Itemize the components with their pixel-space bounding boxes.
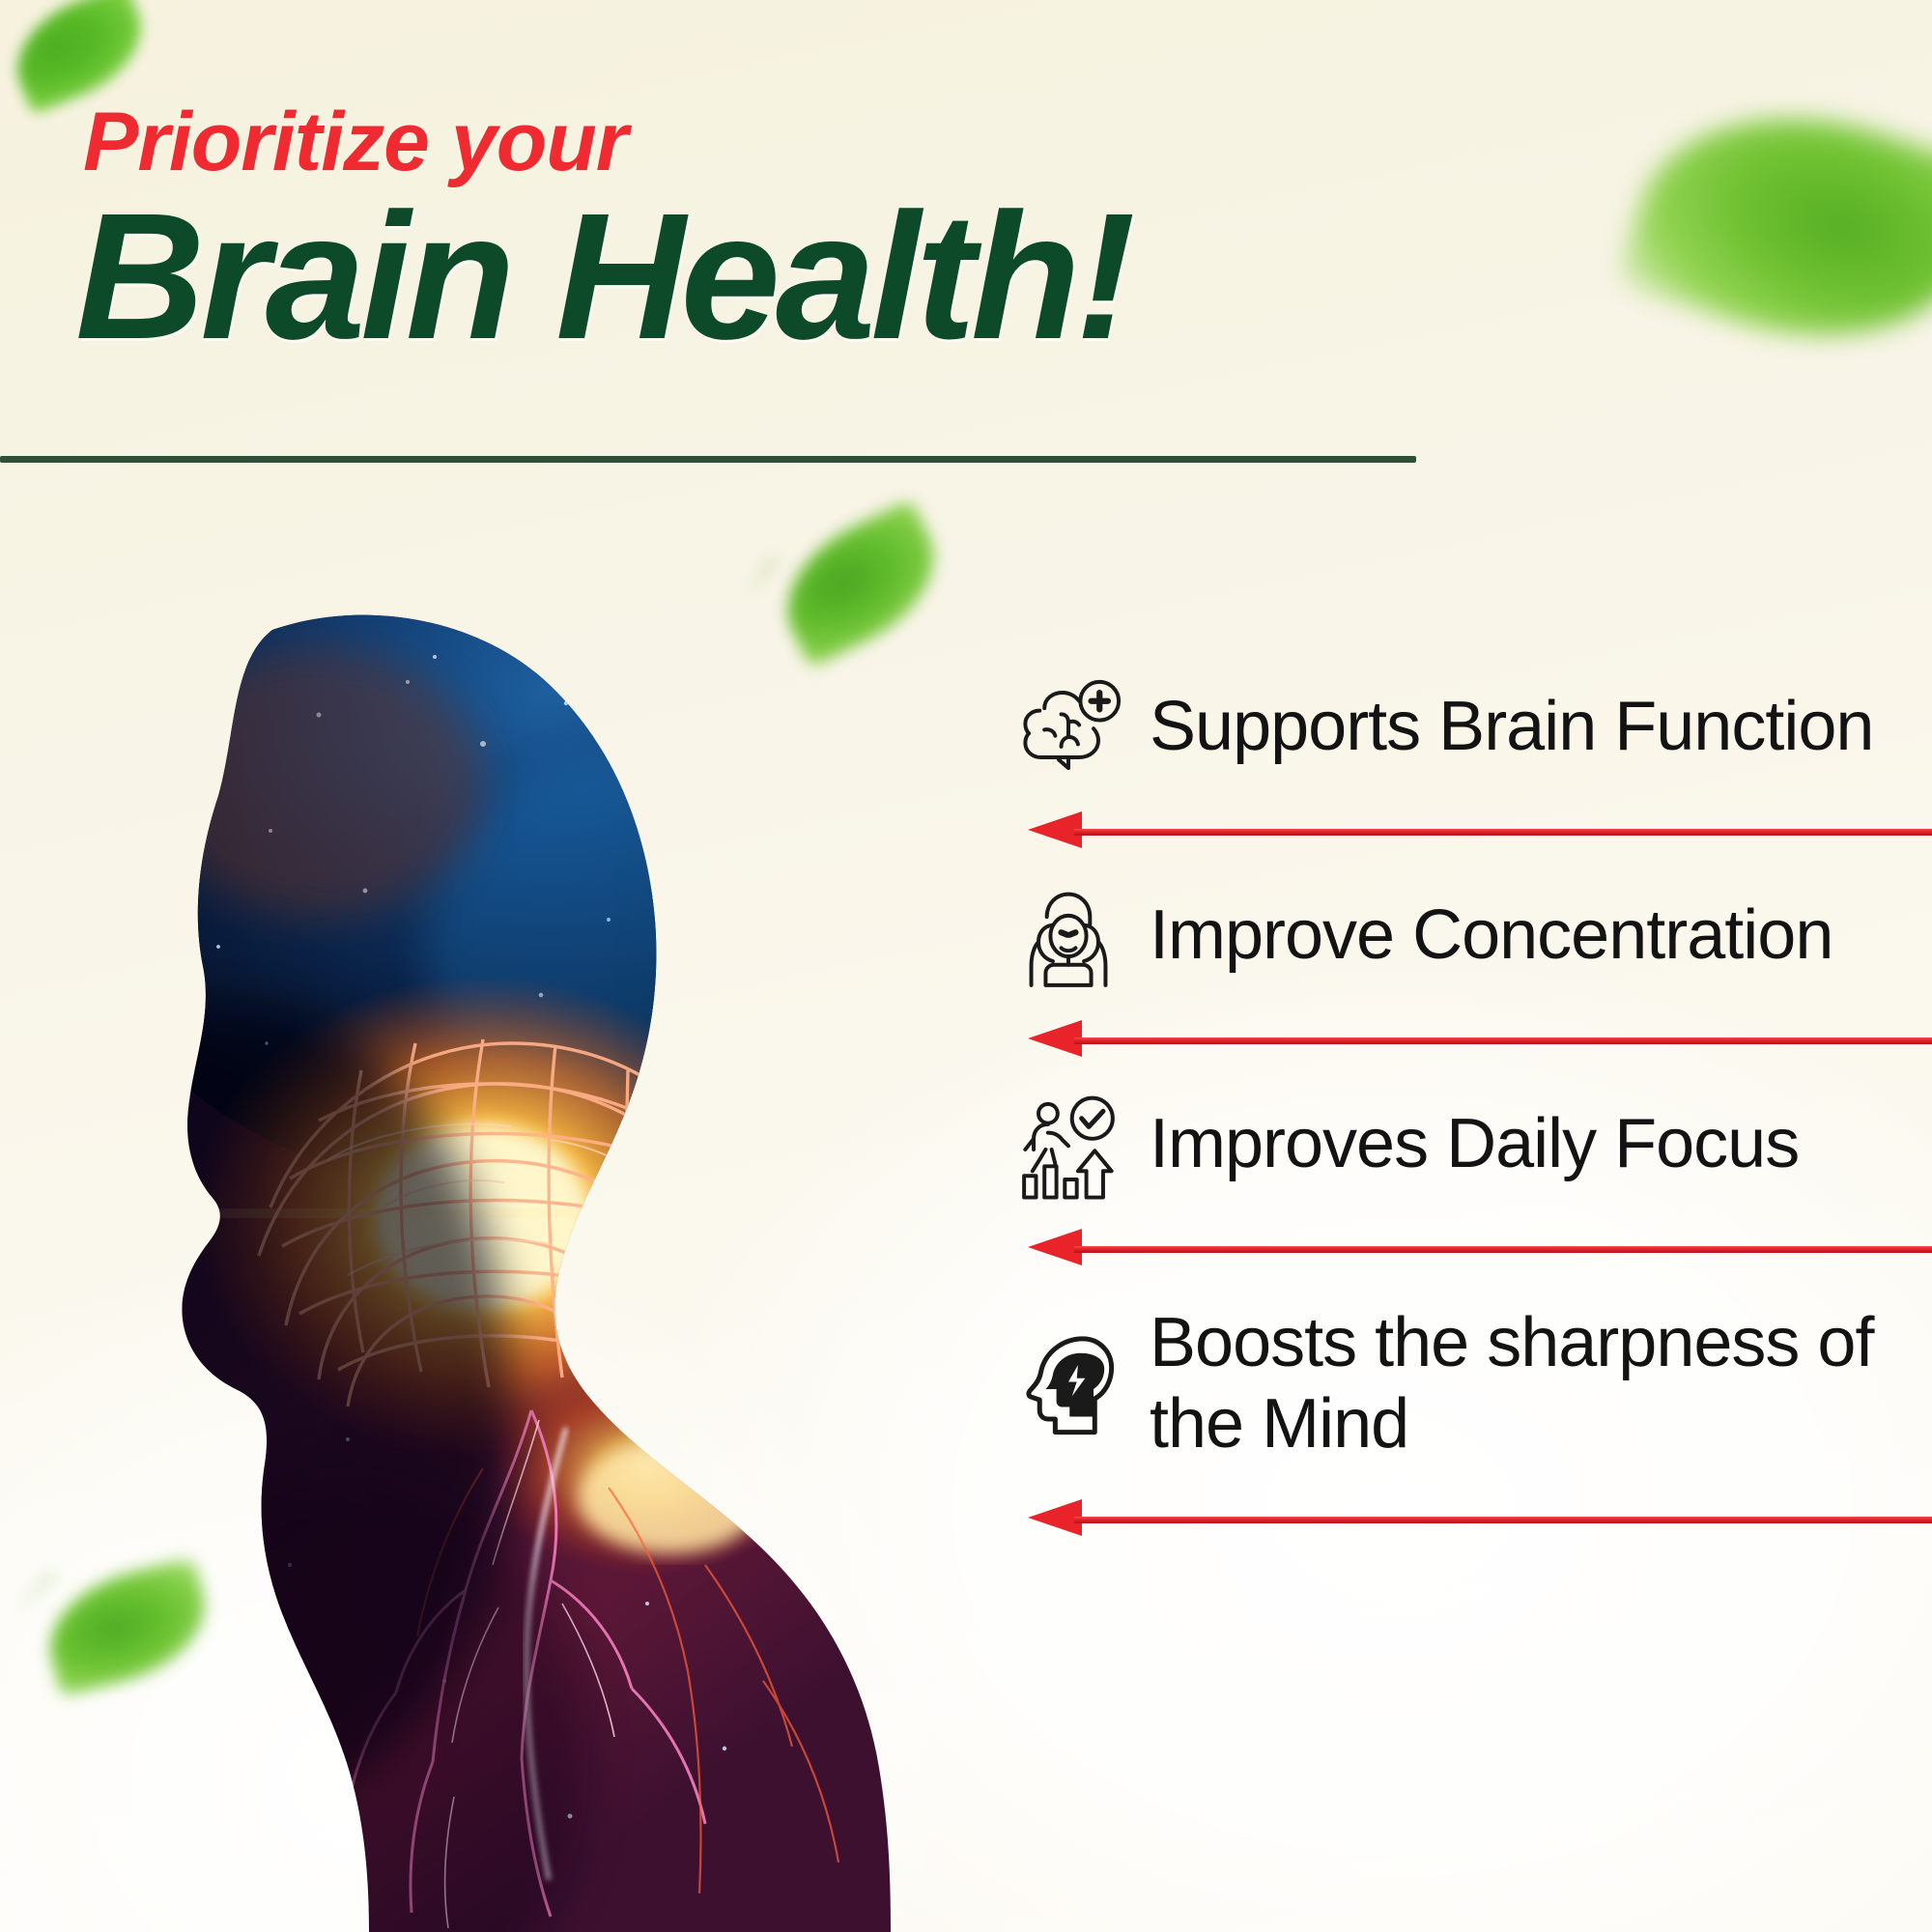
arrow-shaft	[1074, 1517, 1932, 1523]
page-title: Brain Health!	[75, 189, 1447, 365]
arrow-shaft	[1074, 829, 1932, 836]
person-hands-on-head-icon	[1005, 872, 1132, 1000]
benefit-label: Boosts the sharpness of the Mind	[1150, 1303, 1922, 1464]
arrow-shaft	[1074, 1037, 1932, 1044]
benefit-item-improves-daily-focus: Improves Daily Focus	[1005, 1055, 1932, 1235]
benefit-item-improve-concentration: Improve Concentration	[1005, 846, 1932, 1026]
benefit-item-boosts-sharpness-of-mind: Boosts the sharpness of the Mind	[1005, 1264, 1932, 1505]
benefit-label: Improves Daily Focus	[1150, 1104, 1799, 1185]
headline-eyebrow: Prioritize your	[83, 100, 1447, 184]
poster-canvas: Prioritize your Brain Health!	[0, 0, 1932, 1932]
benefit-divider-arrow-4	[1028, 1505, 1932, 1534]
benefit-divider-arrow-1	[1028, 817, 1932, 846]
benefits-list: Supports Brain Function	[1005, 638, 1932, 1534]
headline-block: Prioritize your Brain Health!	[75, 100, 1447, 365]
benefit-item-supports-brain-function: Supports Brain Function	[1005, 638, 1932, 817]
person-climbing-chart-check-icon	[1005, 1081, 1132, 1208]
head-lightning-brain-icon	[1005, 1321, 1132, 1448]
brain-plus-icon	[1005, 664, 1132, 791]
benefit-divider-arrow-3	[1028, 1235, 1932, 1264]
brain-head-illustration	[29, 541, 976, 1932]
headline-divider-rule	[0, 456, 1416, 463]
benefit-divider-arrow-2	[1028, 1026, 1932, 1055]
arrow-shaft	[1074, 1246, 1932, 1253]
benefit-label: Supports Brain Function	[1150, 687, 1873, 768]
benefit-label: Improve Concentration	[1150, 895, 1833, 977]
